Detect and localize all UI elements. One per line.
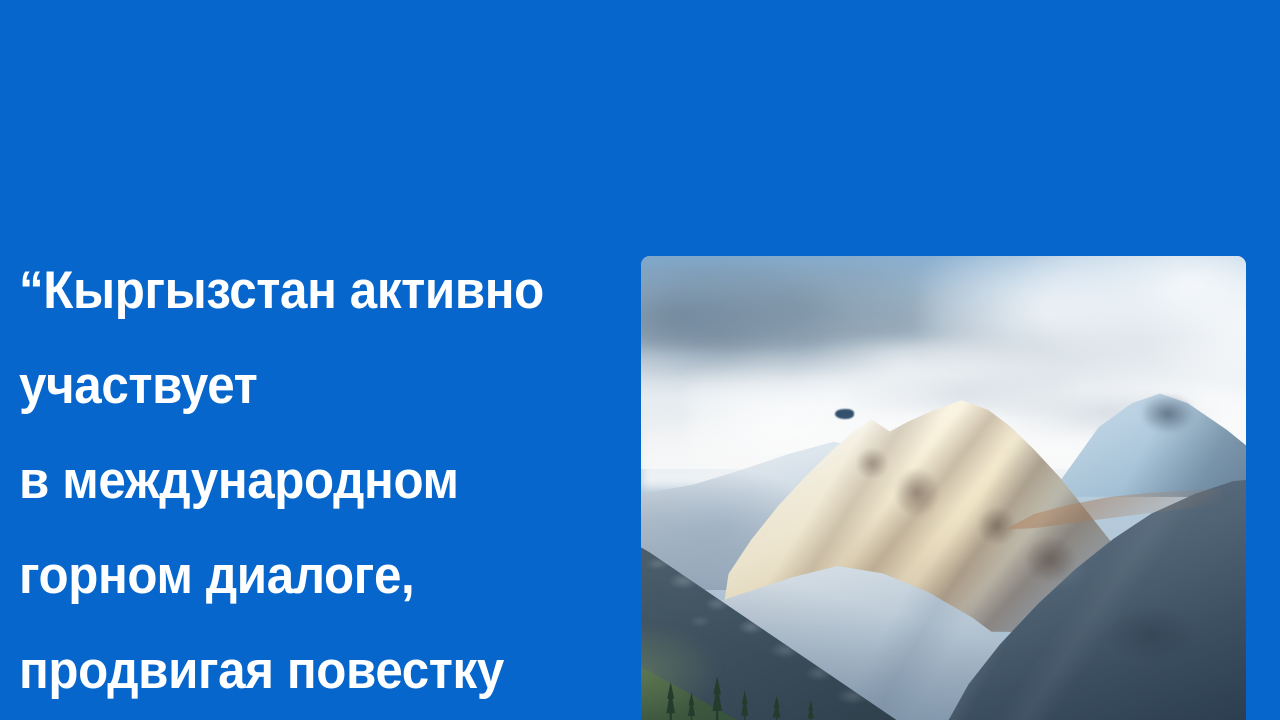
summit-dark-notch <box>835 409 854 419</box>
quote-line-5: продвигая повестку <box>19 623 577 718</box>
mountain-photo-canvas <box>641 256 1246 720</box>
quote-line-4: горном диалоге, <box>19 528 577 623</box>
quote-text-block: “Кыргызстан активно участвует в междунар… <box>19 243 619 718</box>
quote-line-3: в международном <box>19 433 577 528</box>
green-slope-highlight <box>641 627 774 720</box>
distant-peak-rock-patch <box>1143 395 1204 432</box>
quote-slide: “Кыргызстан активно участвует в междунар… <box>0 0 1280 720</box>
quote-line-1: “Кыргызстан активно <box>19 243 577 338</box>
quote-line-2: участвует <box>19 338 577 433</box>
snow-capped-mountain-photo <box>641 256 1246 720</box>
